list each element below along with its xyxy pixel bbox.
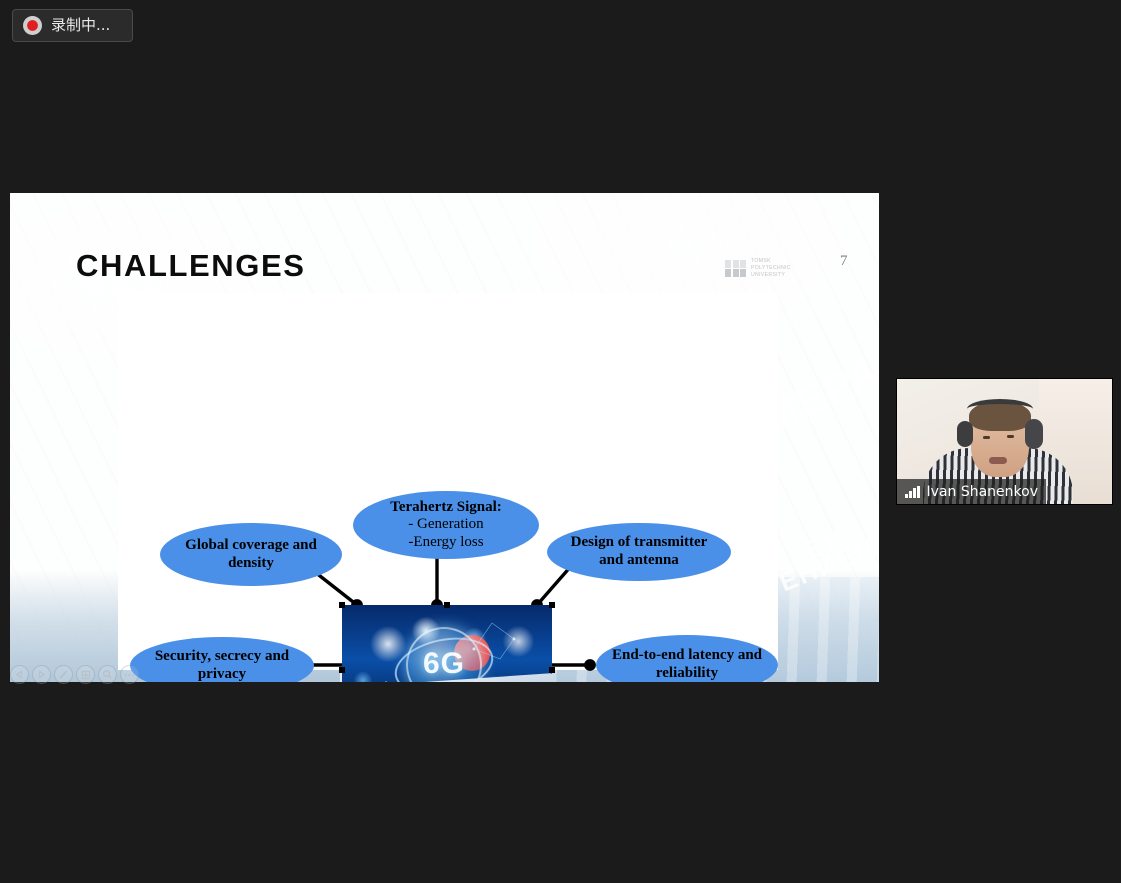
participant-video-tile[interactable]: Ivan Shanenkov (896, 378, 1113, 505)
headphone-left-cup (957, 421, 973, 447)
selection-handle-w[interactable] (339, 667, 345, 673)
selection-handle-e[interactable] (549, 667, 555, 673)
node-text-line: -Energy loss (390, 534, 502, 552)
presentation-toolbar[interactable] (10, 665, 139, 684)
node-terahertz-signal-label: Terahertz Signal:- Generation-Energy los… (380, 499, 512, 552)
node-text-line: density (185, 555, 317, 573)
node-global-coverage-label: Global coverage anddensity (175, 537, 327, 572)
node-text-line: - Generation (390, 516, 502, 534)
node-end-to-end-latency-label: End-to-end latency andreliability (602, 647, 772, 682)
node-text-line: and antenna (571, 552, 708, 570)
more-options-button[interactable] (120, 665, 139, 684)
node-text-line: Global coverage and (185, 537, 317, 555)
magnifier-icon (102, 669, 113, 680)
node-text-line: reliability (612, 665, 762, 682)
record-dot-icon (23, 16, 42, 35)
participant-eye-left (983, 436, 990, 439)
node-design-of-transmitter-label: Design of transmitterand antenna (561, 534, 718, 569)
annotate-button[interactable] (54, 665, 73, 684)
center-image-6g[interactable]: 6G (342, 605, 552, 682)
recording-label: 录制中... (51, 18, 110, 33)
audio-level-bars-icon (905, 486, 920, 498)
node-text-line: privacy (155, 666, 289, 683)
participant-name: Ivan Shanenkov (927, 484, 1038, 500)
selection-handle-nw[interactable] (339, 602, 345, 608)
node-text-line: Security, secrecy and (155, 648, 289, 666)
headphone-right-cup (1025, 419, 1043, 449)
recording-indicator[interactable]: 录制中... (12, 9, 133, 42)
slides-overview-button[interactable] (76, 665, 95, 684)
chevron-left-icon (15, 670, 24, 679)
chevron-right-icon (37, 670, 46, 679)
node-text-line: End-to-end latency and (612, 647, 762, 665)
pen-icon (58, 669, 69, 680)
participant-eye-right (1007, 435, 1014, 438)
next-slide-button[interactable] (32, 665, 51, 684)
node-text-line: Terahertz Signal: (390, 499, 502, 517)
node-global-coverage[interactable]: Global coverage anddensity (160, 523, 342, 586)
center-image-network-lines (342, 605, 552, 682)
previous-slide-button[interactable] (10, 665, 29, 684)
participant-name-bar: Ivan Shanenkov (897, 479, 1046, 504)
headphones-band-icon (967, 399, 1033, 419)
grid-icon (81, 670, 91, 680)
participant-mouth (989, 457, 1007, 464)
node-terahertz-signal[interactable]: Terahertz Signal:- Generation-Energy los… (353, 491, 539, 559)
node-design-of-transmitter[interactable]: Design of transmitterand antenna (547, 523, 731, 581)
node-security-secrecy-privacy-label: Security, secrecy andprivacy (145, 648, 299, 682)
selection-handle-n[interactable] (444, 602, 450, 608)
zoom-button[interactable] (98, 665, 117, 684)
selection-handle-ne[interactable] (549, 602, 555, 608)
node-text-line: Design of transmitter (571, 534, 708, 552)
ellipsis-icon (124, 673, 135, 677)
presentation-slide[interactable]: МЕРА ЕН ЕНИЕМ CHALLENGES TOMSK POLYTECHN… (10, 193, 879, 682)
